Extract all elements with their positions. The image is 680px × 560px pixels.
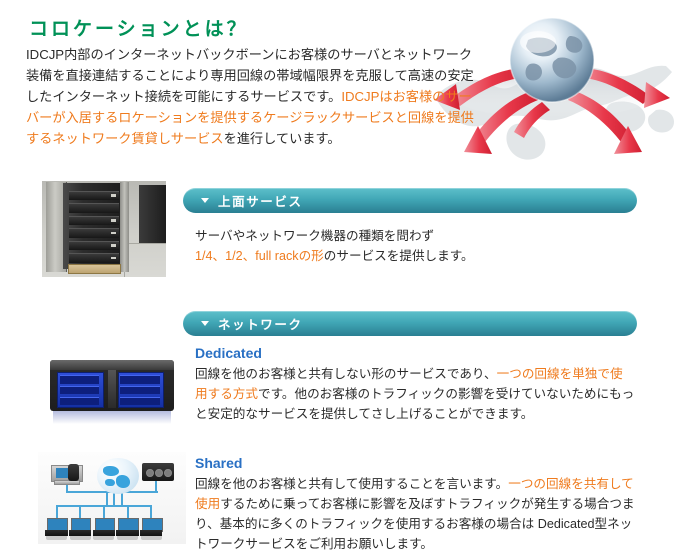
banner-label: ネットワーク <box>218 314 303 333</box>
triangle-down-icon <box>201 321 209 326</box>
top-service-line1: サーバやネットワーク機器の種類を問わず <box>195 226 625 246</box>
globe-continents <box>526 36 583 81</box>
dedicated-block: Dedicated 回線を他のお客様と共有しない形のサービスであり、一つの回線を… <box>195 343 635 424</box>
top-service-suffix: のサービスを提供します。 <box>324 249 474 263</box>
dedicated-part2: です。他のお客様のトラフィックの影響を受けていないためにもっと安定的なサービスを… <box>195 387 634 421</box>
network-topology-diagram <box>38 452 186 544</box>
shared-block: Shared 回線を他のお客様と共有して使用することを言います。一つの回線を共有… <box>195 453 643 554</box>
triangle-down-icon <box>201 198 209 203</box>
network-globe-icon <box>97 458 138 495</box>
top-service-line2: 1/4、1/2、full rackの形のサービスを提供します。 <box>195 246 625 266</box>
shared-part2: するために乗ってお客様に影響を及ぼすトラフィックが発生する場合つまり、基本的に多… <box>195 497 635 551</box>
globe-highlight <box>520 31 556 53</box>
intro-text-part2: を進行しています。 <box>224 131 341 146</box>
globe-shadow <box>456 78 648 118</box>
intro-paragraph: IDCJP内部のインターネットバックボーンにお客様のサーバとネットワーク装備を直… <box>26 44 478 149</box>
page-title: コロケーションとは？ <box>29 14 249 41</box>
section-banner-network[interactable]: ネットワーク <box>183 311 637 336</box>
shared-part1: 回線を他のお客様と共有して使用することを言います。 <box>195 477 508 491</box>
rackmount-server-photo <box>42 349 182 431</box>
laptop-icon <box>116 518 138 540</box>
dedicated-heading: Dedicated <box>195 343 635 363</box>
shared-paragraph: 回線を他のお客様と共有して使用することを言います。一つの回線を共有して使用するた… <box>195 474 643 554</box>
laptop-icon <box>140 518 162 540</box>
laptop-icon <box>93 518 115 540</box>
globe-icon <box>510 18 594 102</box>
dedicated-paragraph: 回線を他のお客様と共有しない形のサービスであり、一つの回線を単独で使用する方式で… <box>195 364 635 424</box>
section-banner-top-service[interactable]: 上面サービス <box>183 188 637 213</box>
laptop-icon <box>45 518 67 540</box>
shared-heading: Shared <box>195 453 643 473</box>
banner-label: 上面サービス <box>218 191 303 210</box>
top-service-highlight: 1/4、1/2、full rackの形 <box>195 249 324 263</box>
server-rack-photo <box>42 181 166 277</box>
laptop-icon <box>69 518 91 540</box>
top-service-body: サーバやネットワーク機器の種類を問わず 1/4、1/2、full rackの形の… <box>195 226 625 266</box>
dedicated-part1: 回線を他のお客様と共有しない形のサービスであり、 <box>195 367 497 381</box>
